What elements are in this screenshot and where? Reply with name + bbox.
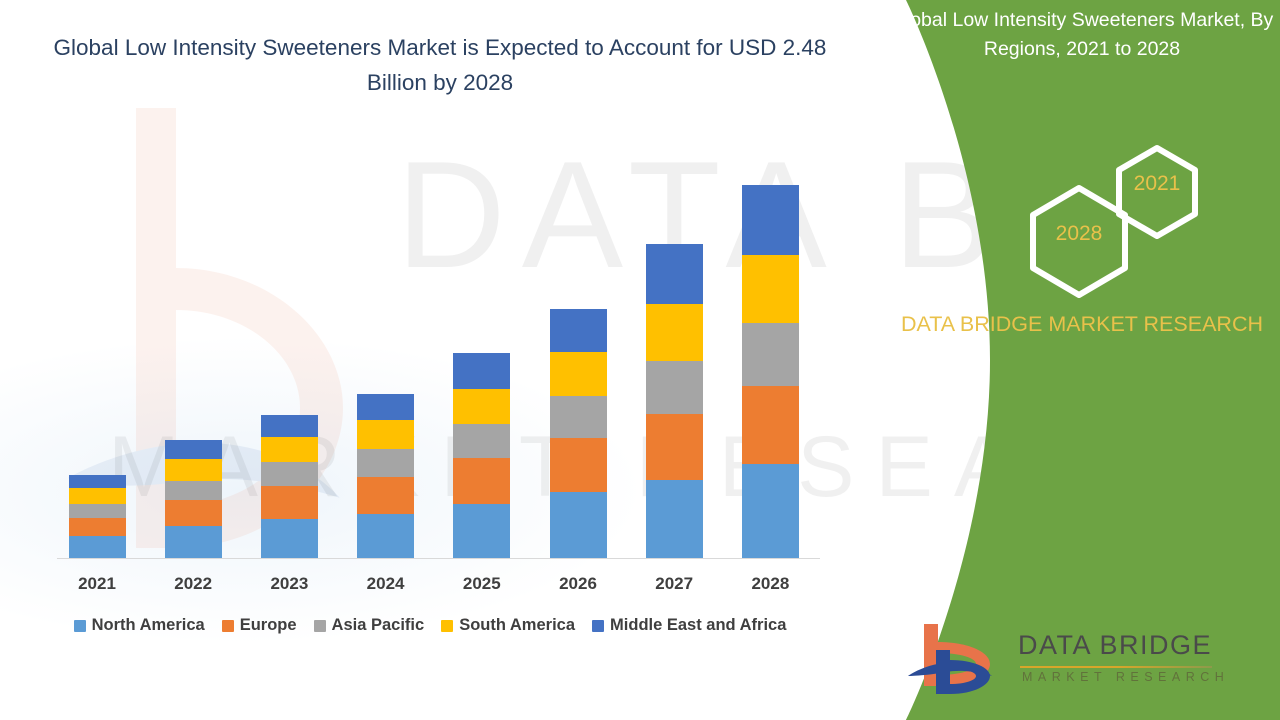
legend-item: South America: [441, 616, 575, 635]
chart-bar-segment: [742, 323, 799, 386]
chart-bar-segment: [69, 504, 126, 518]
chart-bar-segment: [550, 396, 607, 438]
chart-x-axis-labels: 20212022202320242025202620272028: [0, 574, 860, 602]
chart-bar-segment: [357, 394, 414, 421]
panel-brand-text: DATA BRIDGE MARKET RESEARCH: [900, 310, 1264, 339]
chart-bar-segment: [357, 477, 414, 514]
chart-bar-segment: [646, 414, 703, 480]
chart-bar-segment: [165, 481, 222, 500]
chart-bar-segment: [550, 492, 607, 558]
x-axis-tick-label: 2022: [148, 574, 238, 594]
legend-label: Europe: [240, 616, 297, 635]
chart-bar-segment: [646, 361, 703, 414]
legend-label: Middle East and Africa: [610, 616, 786, 635]
chart-bar-segment: [742, 185, 799, 255]
x-axis-tick-label: 2023: [244, 574, 334, 594]
legend-item: Asia Pacific: [314, 616, 425, 635]
legend-swatch-icon: [314, 620, 326, 632]
chart-bar-segment: [261, 415, 318, 436]
chart-bar: [69, 475, 126, 558]
chart-bar-segment: [550, 352, 607, 396]
legend-swatch-icon: [441, 620, 453, 632]
chart-bar-segment: [550, 438, 607, 492]
logo-primary-text: DATA BRIDGE: [1018, 630, 1212, 661]
chart-bar-segment: [69, 536, 126, 557]
x-axis-tick-label: 2025: [437, 574, 527, 594]
logo-secondary-text: MARKET RESEARCH: [1022, 670, 1229, 684]
legend-item: North America: [74, 616, 205, 635]
panel-brand-line1: DATA BRIDGE MARKET: [901, 312, 1138, 336]
legend-label: North America: [92, 616, 205, 635]
legend-label: Asia Pacific: [332, 616, 425, 635]
legend-item: Europe: [222, 616, 297, 635]
chart-bar-segment: [453, 353, 510, 388]
chart-bar-segment: [261, 437, 318, 462]
panel-heading-line1: Global Low Intensity Sweeteners: [891, 9, 1175, 31]
chart-bar: [646, 244, 703, 558]
legend-swatch-icon: [74, 620, 86, 632]
chart-bar-segment: [261, 519, 318, 558]
logo-divider: [1020, 666, 1212, 668]
chart-bar-segment: [69, 488, 126, 503]
panel-content: Global Low Intensity Sweeteners Market, …: [880, 0, 1280, 720]
chart-bar-segment: [165, 500, 222, 527]
legend-swatch-icon: [222, 620, 234, 632]
chart-bar-segment: [453, 504, 510, 558]
legend-swatch-icon: [592, 620, 604, 632]
hexagon-label-end: 2028: [1030, 222, 1128, 246]
chart-bar-segment: [357, 449, 414, 477]
legend-label: South America: [459, 616, 575, 635]
legend-item: Middle East and Africa: [592, 616, 786, 635]
chart-bar: [550, 309, 607, 558]
hexagon-group: 2021 2028: [880, 136, 1280, 304]
chart-bar-segment: [550, 309, 607, 352]
infographic-canvas: DATA BRIDGE MARKET RESEARCH Global Low I…: [0, 0, 1280, 720]
panel-heading: Global Low Intensity Sweeteners Market, …: [890, 6, 1274, 64]
chart-bar-segment: [165, 459, 222, 480]
chart-bar-segment: [69, 518, 126, 537]
panel-brand-line2: RESEARCH: [1144, 312, 1263, 336]
chart-bar-segment: [165, 440, 222, 459]
chart-bar-segment: [261, 486, 318, 519]
chart-bar-segment: [69, 475, 126, 489]
chart-bar: [742, 185, 799, 558]
hexagon-label-start: 2021: [1112, 172, 1202, 196]
chart-bar: [453, 353, 510, 558]
chart-bar-segment: [742, 386, 799, 464]
chart-bar-segment: [453, 389, 510, 424]
chart-legend: North AmericaEuropeAsia PacificSouth Ame…: [0, 616, 860, 635]
data-bridge-logo: DATA BRIDGE MARKET RESEARCH: [906, 620, 1256, 702]
chart-bar: [261, 415, 318, 558]
x-axis-tick-label: 2021: [52, 574, 142, 594]
chart-bar-segment: [646, 304, 703, 361]
chart-bar: [165, 440, 222, 558]
data-bridge-mark-icon: [906, 620, 1010, 698]
hexagon-outlines-icon: [880, 136, 1280, 304]
x-axis-tick-label: 2024: [341, 574, 431, 594]
chart-bar-segment: [261, 462, 318, 486]
chart-bar-segment: [742, 255, 799, 323]
chart-bar-segment: [646, 244, 703, 303]
stacked-bar-chart: 20212022202320242025202620272028 North A…: [0, 0, 860, 720]
chart-bar-segment: [453, 424, 510, 458]
chart-bar-segment: [453, 458, 510, 504]
chart-bar-segment: [357, 420, 414, 449]
x-axis-tick-label: 2026: [533, 574, 623, 594]
x-axis-tick-label: 2027: [629, 574, 719, 594]
chart-bar-segment: [357, 514, 414, 558]
chart-bar-segment: [742, 464, 799, 558]
chart-bar-segment: [165, 526, 222, 558]
chart-bar: [357, 394, 414, 558]
chart-baseline-axis: [57, 558, 820, 559]
chart-bar-segment: [646, 480, 703, 558]
x-axis-tick-label: 2028: [725, 574, 815, 594]
